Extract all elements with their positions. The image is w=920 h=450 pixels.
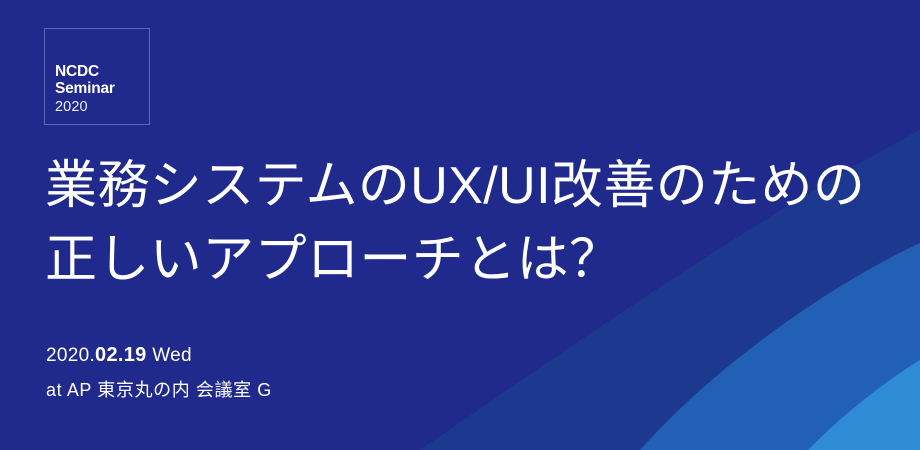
event-date: 2020.02.19 Wed [46, 345, 272, 365]
event-venue: at AP 東京丸の内 会議室 G [46, 381, 272, 399]
logo-line-ncdc: NCDC [55, 63, 115, 81]
logo-line-seminar: Seminar [55, 80, 115, 98]
title-line-1: 業務システムのUX/UI改善のための [45, 150, 885, 224]
title-line-2: 正しいアプローチとは？ [45, 224, 885, 298]
event-date-weekday: Wed [147, 345, 192, 366]
curve-light [808, 360, 920, 450]
ncdc-seminar-logo: NCDC Seminar 2020 [44, 28, 150, 125]
event-meta: 2020.02.19 Wed at AP 東京丸の内 会議室 G [46, 345, 272, 399]
seminar-title-slide: NCDC Seminar 2020 業務システムのUX/UI改善のための 正しい… [0, 0, 920, 450]
page-title: 業務システムのUX/UI改善のための 正しいアプローチとは？ [45, 150, 885, 298]
event-date-prefix: 2020. [46, 345, 95, 366]
logo-text-block: NCDC Seminar 2020 [55, 63, 115, 115]
event-date-value: 02.19 [95, 344, 147, 366]
logo-year: 2020 [55, 99, 115, 115]
